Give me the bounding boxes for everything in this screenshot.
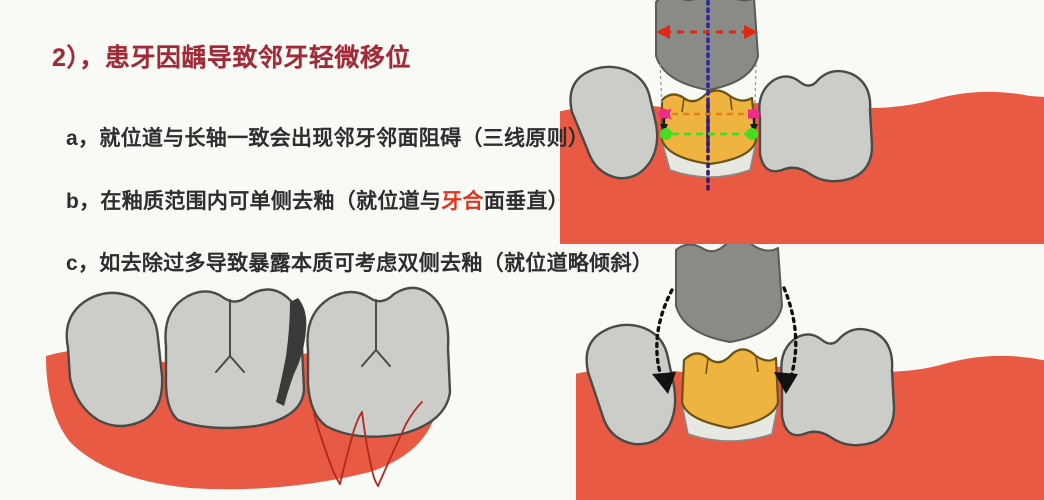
text-content-block: 2），患牙因龋导致邻牙轻微移位 a，就位道与长轴一致会出现邻牙邻面阻碍（三线原则…: [0, 0, 640, 300]
tooth-molar-right: [307, 288, 450, 437]
tooth-molar-middle: [165, 289, 304, 428]
adjacent-tooth-right: [781, 329, 894, 445]
slide-canvas: 2），患牙因龋导致邻牙轻微移位 a，就位道与长轴一致会出现邻牙邻面阻碍（三线原则…: [0, 0, 1044, 500]
bullet-b-highlight-term: 牙合: [441, 190, 484, 213]
survey-point-right: [746, 128, 758, 140]
adjacent-tooth-right: [759, 71, 872, 181]
restoration-crown: [676, 244, 782, 342]
bullet-b-text-before: b，在釉质范围内可单侧去釉（就位道与: [66, 190, 441, 213]
figure-caries-lesion: [40, 272, 480, 500]
prepared-tooth-abutment: [682, 349, 778, 428]
page-title: 2），患牙因龋导致邻牙轻微移位: [52, 38, 411, 74]
bullet-line-b: b，在釉质范围内可单侧去釉（就位道与牙合面垂直）: [66, 185, 569, 215]
guide-line-right: [755, 64, 756, 106]
tooth-premolar-left: [67, 293, 162, 426]
figure-seating-path-tilted: [576, 244, 1044, 500]
figure-seating-path-aligned: [560, 0, 1044, 244]
bullet-line-a: a，就位道与长轴一致会出现邻牙邻面阻碍（三线原则）: [66, 122, 589, 152]
bullet-b-text-after: 面垂直）: [484, 190, 569, 213]
survey-point-left: [660, 128, 672, 140]
